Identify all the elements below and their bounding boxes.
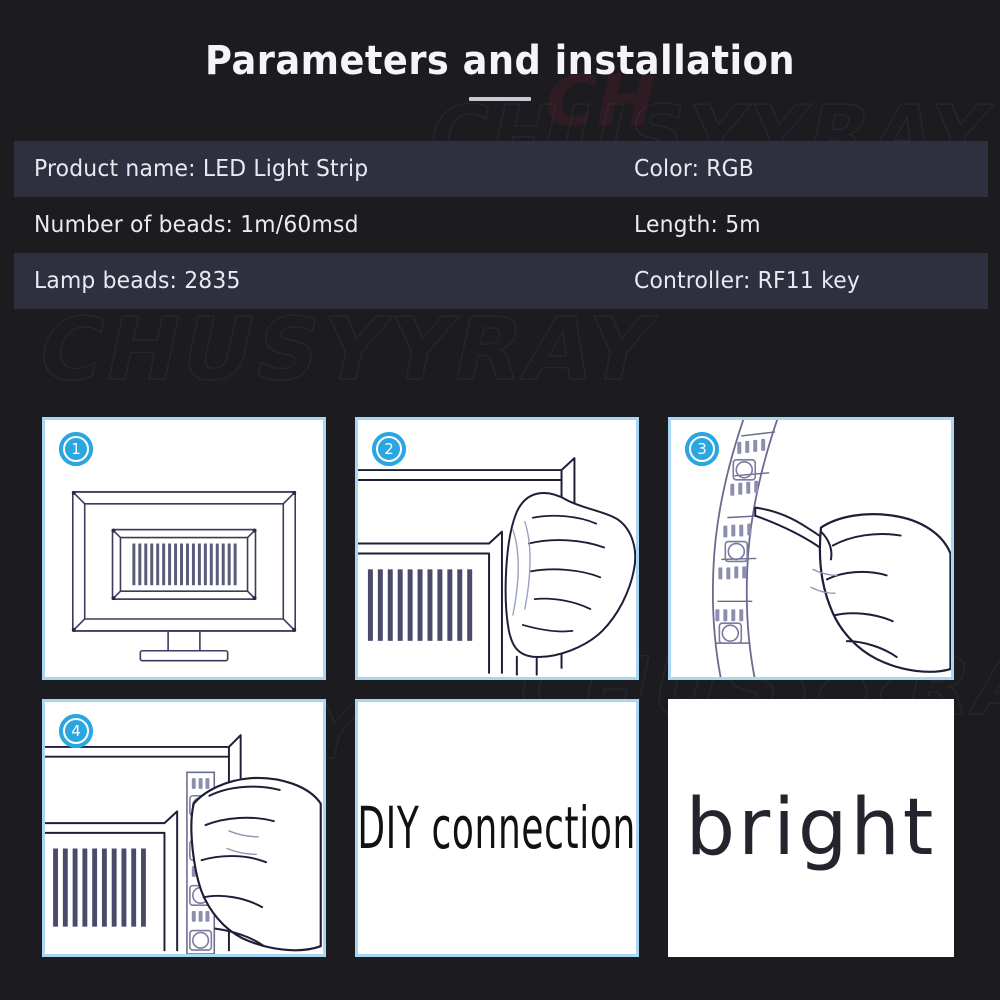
table-row: Number of beads: 1m/60msd Length: 5m bbox=[14, 197, 988, 253]
title-underline bbox=[469, 97, 531, 101]
spec-cell-left: Lamp beads: 2835 bbox=[34, 268, 604, 294]
step-panel-6-bright: bright bbox=[668, 699, 954, 957]
product-infographic-page: CHUSYYRAY CHUSYYRAY CHUSYYRAY CHUSYYRAY … bbox=[0, 0, 1000, 1000]
step-badge-label: 2 bbox=[376, 436, 402, 462]
step-panel-2: 2 bbox=[355, 417, 639, 680]
step-panel-3: 3 bbox=[668, 417, 954, 680]
page-title: Parameters and installation bbox=[40, 38, 960, 84]
spec-cell-left: Number of beads: 1m/60msd bbox=[34, 212, 604, 238]
table-row: Lamp beads: 2835 Controller: RF11 key bbox=[14, 253, 988, 309]
step-panel-5-diy: DIY connection bbox=[355, 699, 639, 957]
specification-table: Product name: LED Light Strip Color: RGB… bbox=[14, 141, 988, 309]
spec-cell-right: Color: RGB bbox=[634, 156, 970, 182]
step-badge-3: 3 bbox=[685, 432, 719, 466]
spec-cell-left: Product name: LED Light Strip bbox=[34, 156, 604, 182]
step-badge-label: 4 bbox=[63, 718, 89, 744]
step-badge-1: 1 bbox=[59, 432, 93, 466]
step-badge-label: 1 bbox=[63, 436, 89, 462]
step-panel-4: 4 bbox=[42, 699, 326, 957]
table-row: Product name: LED Light Strip Color: RGB bbox=[14, 141, 988, 197]
installation-steps-grid: 1 bbox=[42, 417, 958, 957]
panel-text-wrapper: DIY connection bbox=[358, 702, 636, 954]
watermark-text: CHUSYYRAY bbox=[29, 300, 664, 400]
step-badge-4: 4 bbox=[59, 714, 93, 748]
bright-label: bright bbox=[686, 783, 937, 873]
step-badge-2: 2 bbox=[372, 432, 406, 466]
header: Parameters and installation bbox=[0, 38, 1000, 101]
panel-text-wrapper: bright bbox=[668, 699, 954, 957]
spec-cell-right: Controller: RF11 key bbox=[634, 268, 970, 294]
step-badge-label: 3 bbox=[689, 436, 715, 462]
step-panel-1: 1 bbox=[42, 417, 326, 680]
spec-cell-right: Length: 5m bbox=[634, 212, 970, 238]
diy-connection-label: DIY connection bbox=[358, 794, 637, 862]
